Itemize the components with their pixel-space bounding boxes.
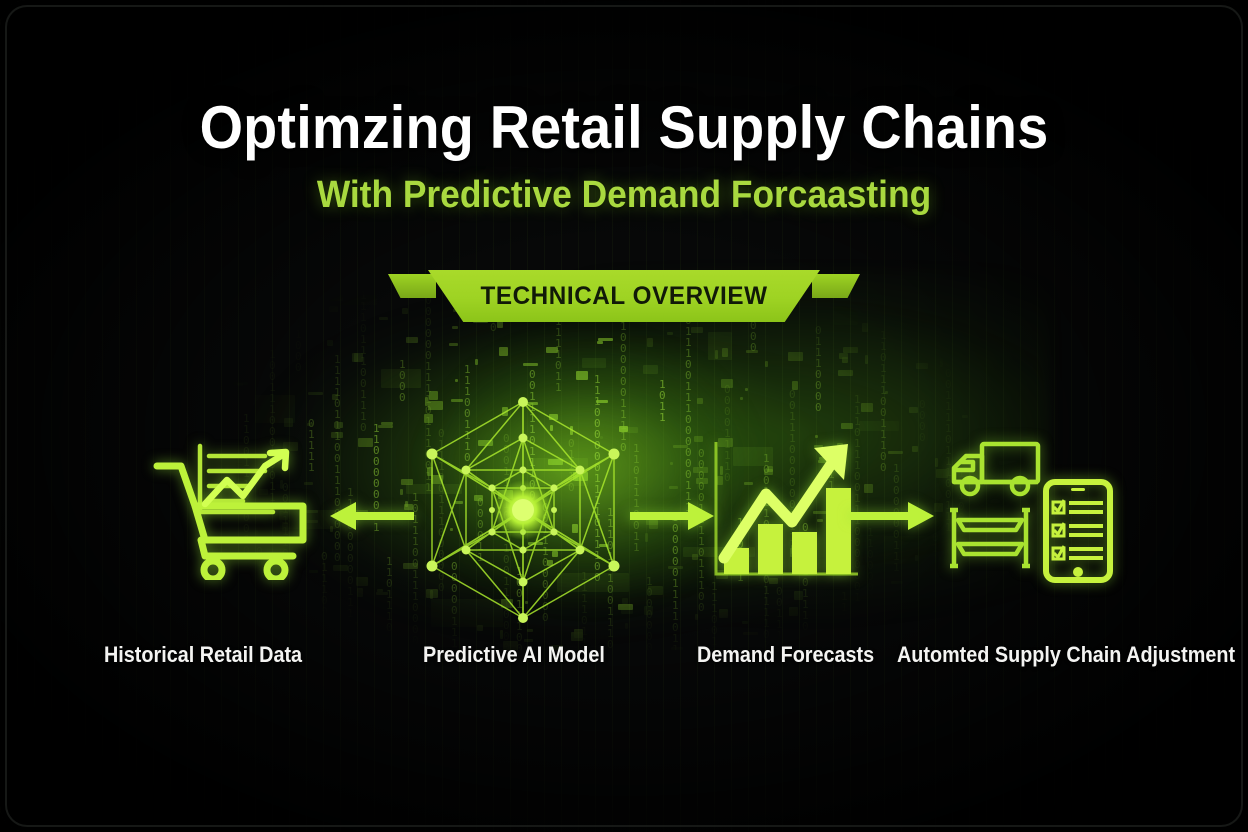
neural-network-nodes-icon xyxy=(418,390,628,630)
pipeline-diagram xyxy=(0,400,1248,620)
shopping-cart-with-line-chart-icon xyxy=(143,440,318,580)
page-subtitle: With Predictive Demand Forcaasting xyxy=(44,175,1205,217)
banner-ribbon: TECHNICAL OVERVIEW xyxy=(428,270,820,322)
bar-chart-growth-arrow-icon xyxy=(706,436,866,586)
technical-overview-banner: TECHNICAL OVERVIEW xyxy=(428,270,820,322)
caption-automated-supply-chain-adjustment: Automted Supply Chain Adjustment xyxy=(897,642,1235,668)
stage-captions: Historical Retail Data Predictive AI Mod… xyxy=(0,642,1248,682)
banner-label: TECHNICAL OVERVIEW xyxy=(480,282,767,311)
stage-icon-automated-supply-chain-adjustment xyxy=(940,438,1120,588)
warehouse-shelf-icon xyxy=(950,510,1030,566)
arrow-model-to-forecasts xyxy=(628,496,718,541)
page-title: Optimzing Retail Supply Chains xyxy=(44,96,1205,161)
caption-demand-forecasts: Demand Forecasts xyxy=(697,642,874,668)
tablet-checklist-icon xyxy=(1046,482,1110,580)
arrow-right-icon xyxy=(628,496,718,536)
arrow-model-to-data xyxy=(326,496,416,541)
caption-predictive-ai-model: Predictive AI Model xyxy=(423,642,605,668)
arrow-forecasts-to-logistics xyxy=(848,496,938,541)
stage-icon-predictive-ai-model xyxy=(418,390,628,630)
arrow-right-icon-2 xyxy=(848,496,938,536)
stage-icon-demand-forecasts xyxy=(706,436,866,586)
slide-canvas: 0 0 0 1 1 0 0 1 1 1 0 0 0 0 0 0 1 1 1 1 … xyxy=(0,0,1248,832)
stage-icon-historical-retail-data xyxy=(140,440,320,580)
arrow-left-icon xyxy=(326,496,416,536)
delivery-truck-warehouse-tablet-icon xyxy=(940,438,1120,588)
truck-icon xyxy=(954,444,1038,494)
header: Optimzing Retail Supply Chains With Pred… xyxy=(0,96,1248,217)
caption-historical-retail-data: Historical Retail Data xyxy=(104,642,302,668)
